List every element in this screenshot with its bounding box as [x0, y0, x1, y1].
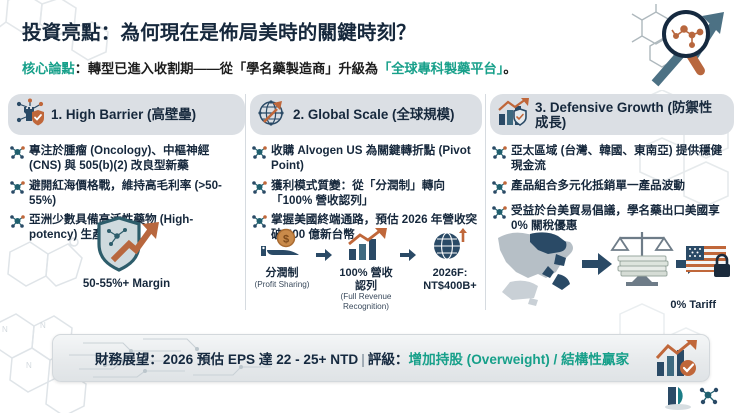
column-1-header[interactable]: 1. High Barrier (高壁壘) [8, 94, 245, 135]
arrow-right-icon [316, 248, 332, 266]
molecule-magnifier-growth-arrow-icon [628, 2, 732, 93]
svg-text:$: $ [283, 234, 289, 246]
column-3-header[interactable]: 3. Defensive Growth (防禦性成長) [490, 94, 734, 135]
castle-shield-molecule-icon [15, 98, 45, 131]
column-2-header[interactable]: 2. Global Scale (全球規模) [250, 94, 482, 135]
column-2-title: 2. Global Scale (全球規模) [293, 107, 454, 122]
flow-step-2-label: 100% 營收認列 [334, 267, 398, 292]
list-item: 產品組合多元化抵銷單一產品波動 [492, 178, 730, 199]
list-item: 收購 Alvogen US 為關鍵轉折點 (Pivot Point) [252, 143, 478, 174]
subtitle-middle: ：轉型已進入收割期——從「學名藥製造商」升級為 [75, 61, 378, 76]
column-1-caption: 50-55%+ Margin [8, 278, 245, 290]
molecule-bullet-icon [492, 180, 507, 199]
subtitle-label: 核心論點 [22, 61, 75, 76]
column-2-visual-flow: $ 分潤制 (Profit Sharing) [250, 228, 482, 312]
list-item: 避開紅海價格戰，維持高毛利率 (>50-55%) [10, 178, 241, 209]
list-item: 獲利模式質變：從「分潤制」轉向「100% 營收認列」 [252, 178, 478, 209]
column-high-barrier: 1. High Barrier (高壁壘) 專注於腫瘤 (Oncology)、中… [8, 88, 245, 321]
column-1-title-en: 1. High Barrier [51, 107, 143, 122]
column-1-visual: 50-55%+ Margin [8, 216, 245, 290]
bar-chart-arrow-icon [343, 249, 389, 266]
svg-text:N: N [2, 325, 8, 334]
footer-text: 財務展望：2026 預估 EPS 達 22 - 25+ NTD|評級：增加持股 … [53, 348, 709, 368]
column-2-title-zh: (全球規模) [392, 107, 454, 122]
flow-step-2-sublabel: (Full Revenue Recognition) [334, 292, 398, 311]
scales-cash-icon [612, 232, 672, 286]
highlight-columns: 1. High Barrier (高壁壘) 專注於腫瘤 (Oncology)、中… [0, 88, 740, 321]
footer-rating-label: 評級： [368, 352, 409, 367]
column-2-title-en: 2. Global Scale [293, 107, 388, 122]
column-divider-1 [245, 94, 246, 310]
molecule-bullet-icon [10, 180, 25, 199]
list-item: 亞太區域 (台灣、韓國、東南亞) 提供穩健現金流 [492, 143, 730, 174]
svg-text:N: N [40, 321, 46, 330]
flow-step-3: 2026F: NT$400B+ [418, 228, 482, 292]
column-1-title-zh: (高壁壘) [147, 107, 196, 122]
asia-pacific-map-icon [498, 232, 573, 306]
arrow-right-icon [400, 248, 416, 266]
arrow-right-icon [582, 253, 612, 275]
shield-molecule-arrow-icon [89, 259, 165, 276]
molecule-bullet-icon [492, 145, 507, 164]
column-divider-2 [485, 94, 486, 310]
flow-step-1: $ 分潤制 (Profit Sharing) [250, 228, 314, 289]
footer-summary-bar[interactable]: 財務展望：2026 預估 EPS 達 22 - 25+ NTD|評級：增加持股 … [52, 334, 710, 382]
column-3-title: 3. Defensive Growth (防禦性成長) [535, 100, 722, 130]
page-header: 投資亮點：為何現在是佈局美時的關鍵時刻？ 核心論點：轉型已進入收割期——從「學名… [0, 0, 740, 88]
globe-growth-arrow-icon [257, 98, 287, 131]
molecule-bullet-icon [252, 145, 267, 164]
bar-chart-shield-icon [497, 98, 529, 131]
flow-step-1-label: 分潤制 [250, 267, 314, 280]
subtitle-end: 。 [503, 61, 516, 76]
list-item-text: 收購 Alvogen US 為關鍵轉折點 (Pivot Point) [271, 143, 478, 174]
column-global-scale: 2. Global Scale (全球規模) 收購 Alvogen US 為關鍵… [250, 88, 482, 321]
globe-arrow-icon [430, 249, 470, 266]
molecule-bullet-icon [10, 145, 25, 164]
company-logo [664, 383, 726, 416]
list-item-text: 產品組合多元化抵銷單一產品波動 [511, 178, 685, 193]
flow-step-3-sublabel: NT$400B+ [418, 280, 482, 293]
list-item: 專注於腫瘤 (Oncology)、中樞神經 (CNS) 與 505(b)(2) … [10, 143, 241, 174]
trade-flow-illustration [490, 220, 734, 308]
subtitle-highlight: 「全球專科製藥平台」 [378, 61, 503, 76]
page-title: 投資亮點：為何現在是佈局美時的關鍵時刻？ [22, 16, 416, 45]
hand-coin-icon: $ [259, 249, 305, 266]
column-3-caption: 0% Tariff [670, 299, 716, 311]
list-item-text: 亞太區域 (台灣、韓國、東南亞) 提供穩健現金流 [511, 143, 730, 174]
footer-outlook: 財務展望：2026 預估 EPS 達 22 - 25+ NTD [95, 352, 358, 367]
footer-rating-value: 增加持股 (Overweight) / 結構性贏家 [409, 352, 630, 367]
column-1-title: 1. High Barrier (高壁壘) [51, 107, 196, 122]
list-item-text: 獲利模式質變：從「分潤制」轉向「100% 營收認列」 [271, 178, 478, 209]
us-flag-lock-icon [686, 246, 730, 277]
page-subtitle: 核心論點：轉型已進入收割期——從「學名藥製造商」升級為「全球專科製藥平台」。 [22, 58, 517, 77]
column-3-title-en: 3. Defensive Growth [535, 100, 664, 115]
flow-step-3-label: 2026F: [418, 267, 482, 280]
molecule-bullet-icon [252, 180, 267, 199]
svg-text:N: N [26, 361, 32, 370]
flow-step-1-sublabel: (Profit Sharing) [250, 280, 314, 290]
column-defensive-growth: 3. Defensive Growth (防禦性成長) 亞太區域 (台灣、韓國、… [490, 88, 734, 321]
bar-chart-check-icon [655, 340, 699, 382]
column-3-visual-flow: 0% Tariff [490, 220, 734, 313]
list-item-text: 專注於腫瘤 (Oncology)、中樞神經 (CNS) 與 505(b)(2) … [29, 143, 241, 174]
flow-step-2: 100% 營收認列 (Full Revenue Recognition) [334, 228, 398, 312]
list-item-text: 避開紅海價格戰，維持高毛利率 (>50-55%) [29, 178, 241, 209]
footer-separator: | [358, 352, 368, 367]
